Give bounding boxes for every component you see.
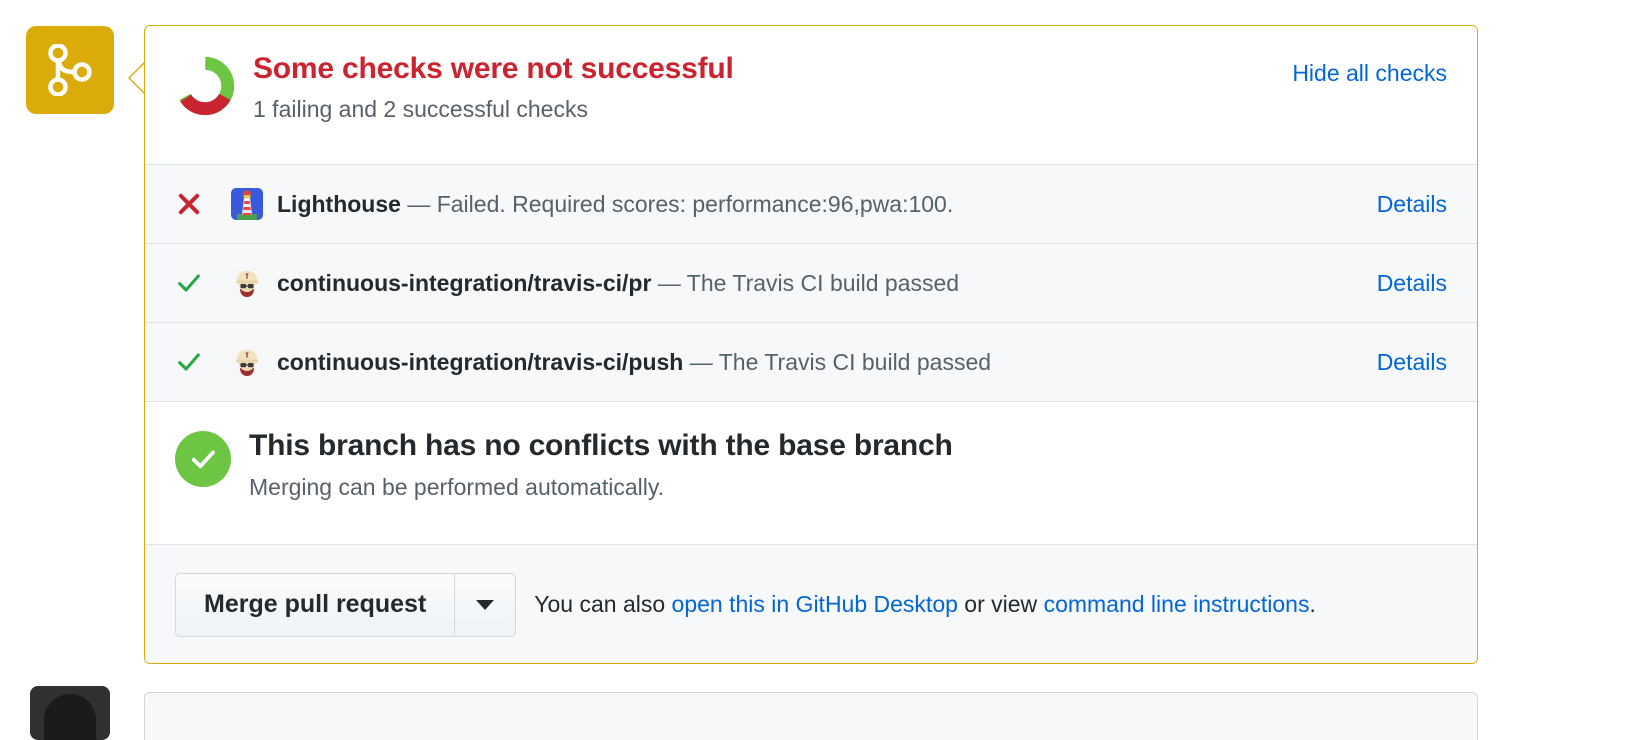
merge-actions-section: Merge pull request You can also open thi…	[145, 544, 1477, 664]
travis-ci-icon	[231, 346, 263, 378]
status-donut-icon	[175, 56, 235, 116]
merge-hint-text: You can also open this in GitHub Desktop…	[534, 591, 1316, 618]
hide-all-checks-toggle[interactable]: Hide all checks	[1292, 60, 1447, 87]
check-name: continuous-integration/travis-ci/push	[277, 349, 683, 375]
check-label: Lighthouse — Failed. Required scores: pe…	[277, 191, 1377, 218]
checks-status-title: Some checks were not successful	[253, 52, 1292, 87]
merge-hint-prefix: You can also	[534, 591, 671, 617]
check-circle-icon	[175, 431, 231, 487]
merge-hint-middle: or view	[958, 591, 1044, 617]
check-dash: —	[407, 191, 430, 217]
table-row[interactable]: continuous-integration/travis-ci/pr — Th…	[145, 243, 1477, 322]
avatar-hair	[44, 694, 96, 740]
check-state	[175, 269, 231, 297]
check-icon	[175, 348, 203, 376]
table-row[interactable]: continuous-integration/travis-ci/push — …	[145, 322, 1477, 401]
merge-button-group: Merge pull request	[175, 573, 516, 637]
check-label: continuous-integration/travis-ci/pr — Th…	[277, 270, 1377, 297]
github-desktop-link[interactable]: open this in GitHub Desktop	[672, 591, 958, 617]
command-line-instructions-link[interactable]: command line instructions	[1044, 591, 1310, 617]
table-row[interactable]: Lighthouse — Failed. Required scores: pe…	[145, 164, 1477, 243]
merge-hint-suffix: .	[1309, 591, 1315, 617]
checks-list: Lighthouse — Failed. Required scores: pe…	[145, 164, 1477, 401]
lighthouse-icon	[231, 188, 263, 220]
pull-request-merge-box-screen: Some checks were not successful 1 failin…	[0, 0, 1644, 740]
check-description: The Travis CI build passed	[687, 270, 959, 296]
timeline-badge-git-branch	[26, 26, 114, 114]
checks-status-subtitle: 1 failing and 2 successful checks	[253, 96, 1292, 124]
check-dash: —	[690, 349, 713, 375]
check-details-link[interactable]: Details	[1377, 191, 1447, 218]
git-branch-icon	[47, 44, 93, 96]
merge-options-dropdown-button[interactable]	[454, 573, 516, 637]
check-dash: —	[658, 270, 681, 296]
merge-conflicts-section: This branch has no conflicts with the ba…	[145, 401, 1477, 544]
checks-header: Some checks were not successful 1 failin…	[145, 26, 1477, 164]
check-icon	[175, 269, 203, 297]
check-details-link[interactable]: Details	[1377, 349, 1447, 376]
merge-pull-request-button[interactable]: Merge pull request	[175, 573, 454, 637]
check-details-link[interactable]: Details	[1377, 270, 1447, 297]
check-description: Failed. Required scores: performance:96,…	[437, 191, 954, 217]
next-comment-box	[144, 692, 1478, 740]
check-label: continuous-integration/travis-ci/push — …	[277, 349, 1377, 376]
check-name: continuous-integration/travis-ci/pr	[277, 270, 651, 296]
x-icon	[175, 190, 203, 218]
conflicts-subtitle: Merging can be performed automatically.	[249, 474, 953, 501]
check-state	[175, 190, 231, 218]
check-state	[175, 348, 231, 376]
check-description: The Travis CI build passed	[719, 349, 991, 375]
avatar	[30, 686, 110, 740]
chevron-down-icon	[476, 600, 494, 610]
check-name: Lighthouse	[277, 191, 401, 217]
merge-box: Some checks were not successful 1 failin…	[144, 25, 1478, 664]
conflicts-title: This branch has no conflicts with the ba…	[249, 429, 953, 464]
travis-ci-icon	[231, 267, 263, 299]
